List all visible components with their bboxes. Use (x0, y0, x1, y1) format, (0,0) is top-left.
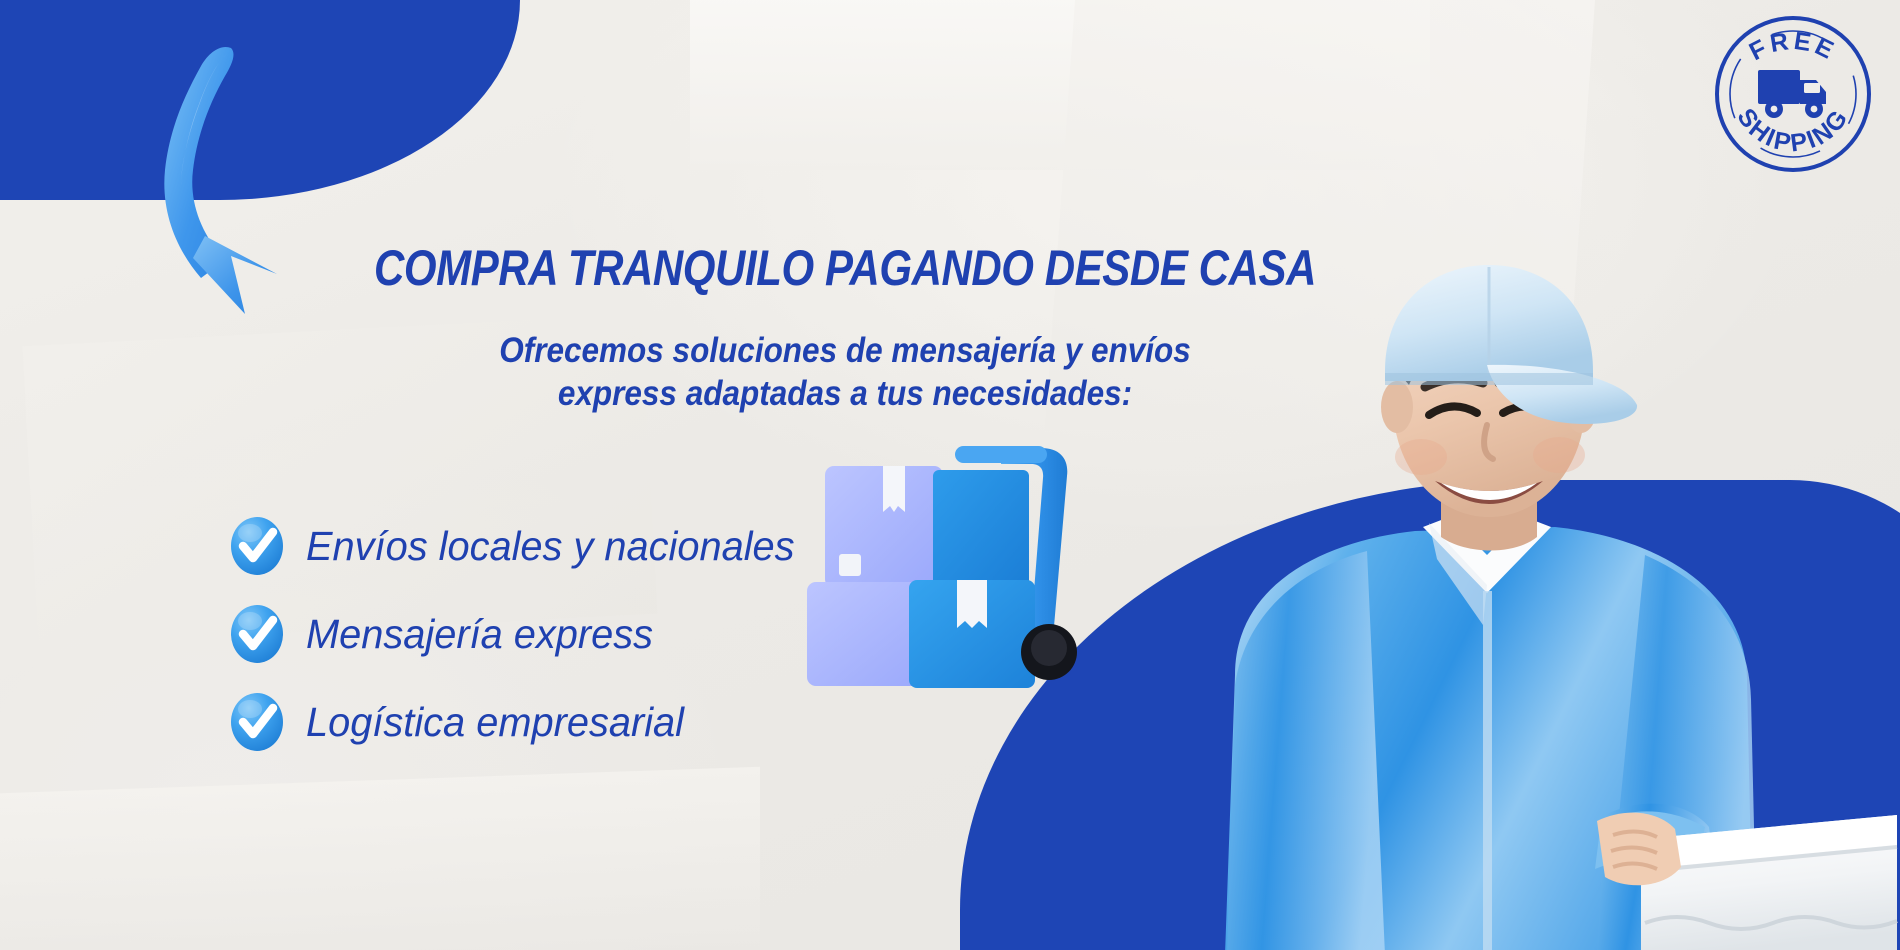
check-circle-icon (228, 515, 286, 577)
background-floor (0, 767, 760, 950)
free-shipping-badge: FREE SHIPPING (1704, 8, 1882, 180)
parcel-box-blue-lower (909, 580, 1035, 688)
parcel-box-light (825, 466, 943, 588)
courier-sleeve-left (1227, 551, 1385, 950)
list-item-label: Logística empresarial (306, 702, 684, 743)
delivery-truck-icon (1758, 70, 1826, 118)
hand-truck-illustration (805, 430, 1125, 700)
promo-banner: FREE SHIPPING COMPRA TRANQUILO PAGANDO D… (0, 0, 1900, 950)
list-item-label: Envíos locales y nacionales (306, 526, 795, 567)
background-wall (690, 0, 1430, 170)
parcel-box-blue-upper (933, 470, 1029, 586)
badge-top-text: FREE (1745, 27, 1841, 66)
courier-zipper (1483, 591, 1492, 950)
courier-hand (1597, 813, 1681, 886)
check-circle-icon (228, 603, 286, 665)
delivery-person-photo (1085, 255, 1900, 950)
badge-bottom-text: SHIPPING (1731, 103, 1854, 157)
check-circle-icon (228, 691, 286, 753)
list-item-label: Mensajería express (306, 614, 653, 655)
